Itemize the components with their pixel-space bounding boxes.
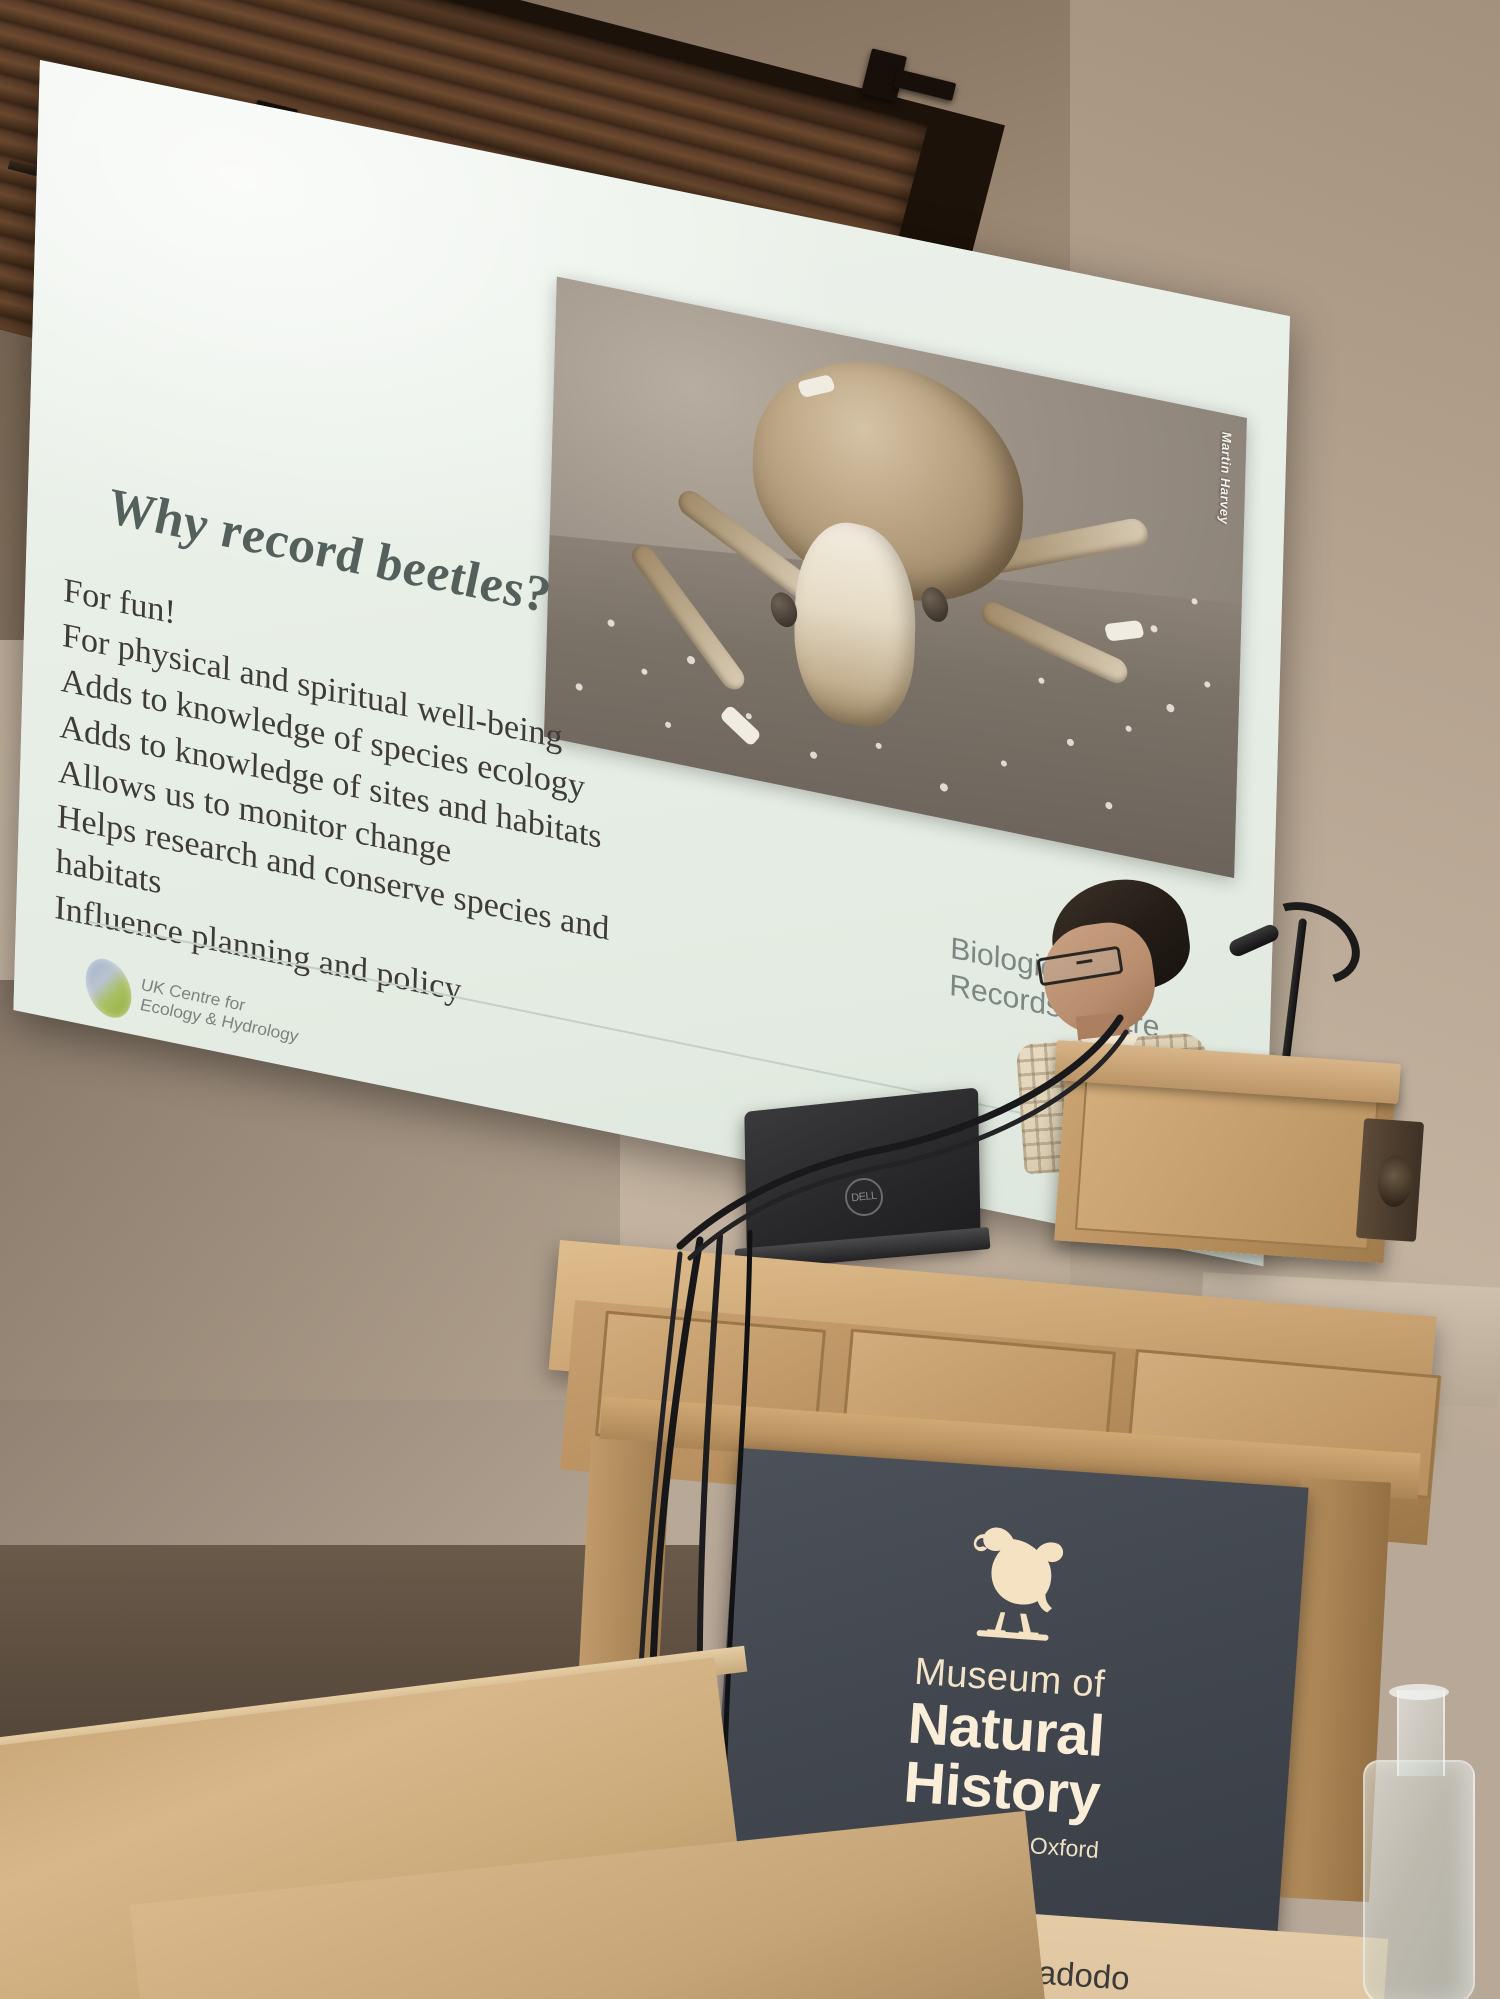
lecture-hall-photo: Martin Harvey Why record beetles? For fu…: [0, 0, 1500, 1999]
carafe-neck: [1397, 1690, 1445, 1776]
wall-shading: [0, 980, 620, 1580]
carafe-body: [1363, 1760, 1475, 1999]
water-carafe: [1355, 1690, 1475, 1999]
cable-to-lectern: [650, 1010, 1170, 1270]
dodo-logo-icon: [937, 1499, 1097, 1659]
carafe-lip: [1389, 1684, 1449, 1700]
